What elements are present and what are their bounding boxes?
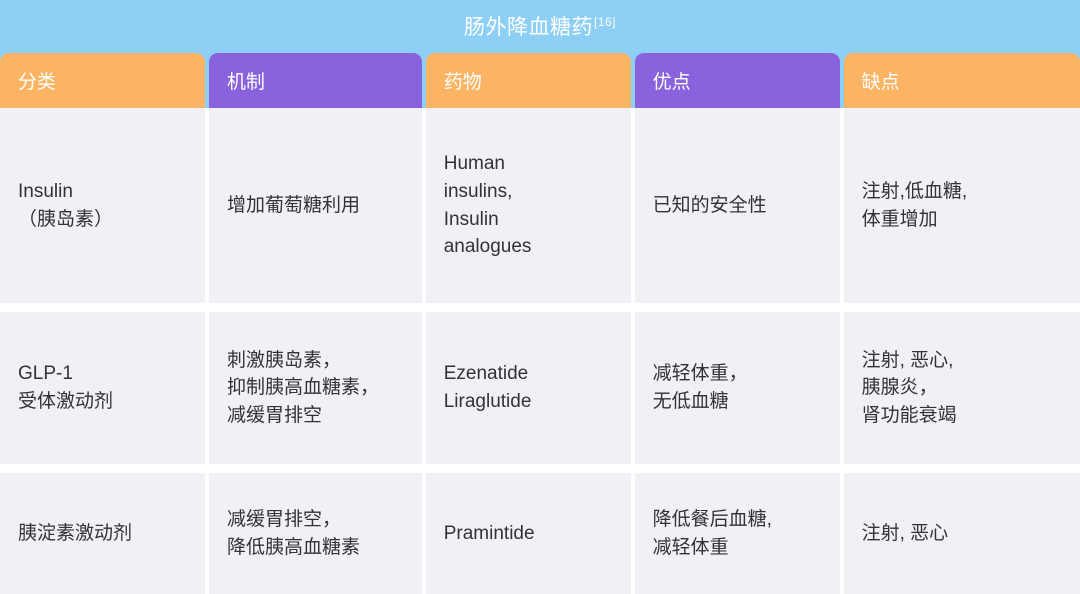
column-header-drugs[interactable]: 药物 <box>426 53 631 108</box>
table-row: 胰淀素激动剂 减缓胃排空， 降低胰高血糖素 Pramintide 降低餐后血糖,… <box>0 473 1080 594</box>
cell-advantages: 已知的安全性 <box>635 108 840 303</box>
table-title-band: 肠外降血糖药[16] <box>0 0 1080 53</box>
parenteral-hypoglycemic-drugs-table: 肠外降血糖药[16] 分类 机制 药物 优点 缺点 Insulin （胰岛素） … <box>0 0 1080 585</box>
cell-mechanism: 减缓胃排空， 降低胰高血糖素 <box>209 473 422 594</box>
cell-advantages: 减轻体重， 无低血糖 <box>635 312 840 464</box>
cell-disadvantages: 注射,低血糖, 体重增加 <box>844 108 1080 303</box>
column-header-category[interactable]: 分类 <box>0 53 205 108</box>
table-title-text: 肠外降血糖药 <box>464 16 593 39</box>
table-title-reference: [16] <box>594 15 616 29</box>
table-body: Insulin （胰岛素） 增加葡萄糖利用 Human insulins, In… <box>0 108 1080 585</box>
cell-advantages: 降低餐后血糖, 减轻体重 <box>635 473 840 594</box>
column-header-advantages[interactable]: 优点 <box>635 53 840 108</box>
column-header-mechanism[interactable]: 机制 <box>209 53 422 108</box>
cell-mechanism: 刺激胰岛素， 抑制胰高血糖素， 减缓胃排空 <box>209 312 422 464</box>
cell-disadvantages: 注射, 恶心, 胰腺炎， 肾功能衰竭 <box>844 312 1080 464</box>
cell-drugs: Pramintide <box>426 473 631 594</box>
row-divider <box>0 464 1080 473</box>
page-title: 肠外降血糖药[16] <box>464 16 616 38</box>
cell-category: Insulin （胰岛素） <box>0 108 205 303</box>
table-row: Insulin （胰岛素） 增加葡萄糖利用 Human insulins, In… <box>0 108 1080 303</box>
cell-drugs: Ezenatide Liraglutide <box>426 312 631 464</box>
column-header-disadvantages[interactable]: 缺点 <box>844 53 1080 108</box>
cell-mechanism: 增加葡萄糖利用 <box>209 108 422 303</box>
row-divider <box>0 303 1080 312</box>
cell-disadvantages: 注射, 恶心 <box>844 473 1080 594</box>
cell-drugs: Human insulins, Insulin analogues <box>426 108 631 303</box>
table-row: GLP-1 受体激动剂 刺激胰岛素， 抑制胰高血糖素， 减缓胃排空 Ezenat… <box>0 312 1080 464</box>
cell-category: 胰淀素激动剂 <box>0 473 205 594</box>
table-header-row: 分类 机制 药物 优点 缺点 <box>0 53 1080 108</box>
cell-category: GLP-1 受体激动剂 <box>0 312 205 464</box>
